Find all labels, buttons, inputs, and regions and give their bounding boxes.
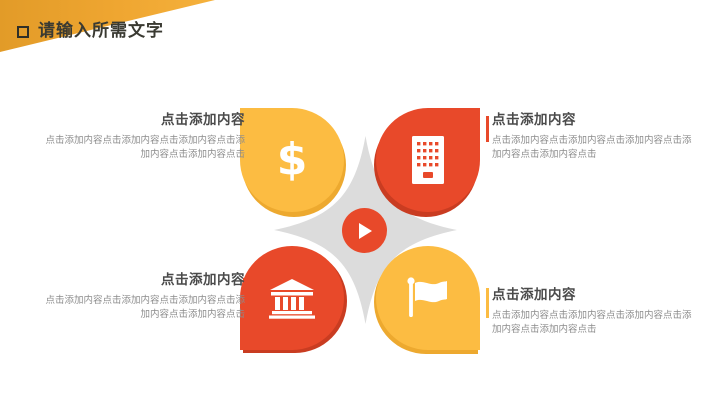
dollar-icon: $ bbox=[240, 108, 344, 212]
play-button[interactable] bbox=[342, 208, 387, 253]
text-block-bottom-left-body: 点击添加内容点击添加内容点击添加内容点击添加内容点击添加内容点击 bbox=[40, 294, 245, 323]
text-block-top-right[interactable]: 点击添加内容 点击添加内容点击添加内容点击添加内容点击添加内容点击添加内容点击 bbox=[492, 112, 697, 163]
text-block-bottom-right-heading: 点击添加内容 bbox=[492, 287, 697, 305]
accent-bar-top-right bbox=[486, 116, 489, 142]
text-block-bottom-right[interactable]: 点击添加内容 点击添加内容点击添加内容点击添加内容点击添加内容点击添加内容点击 bbox=[492, 287, 697, 338]
text-block-top-right-body: 点击添加内容点击添加内容点击添加内容点击添加内容点击添加内容点击 bbox=[492, 134, 697, 163]
text-block-top-left-heading: 点击添加内容 bbox=[40, 112, 245, 130]
petal-top-left[interactable]: $ bbox=[240, 108, 344, 212]
bank-icon bbox=[240, 246, 344, 350]
office-building-icon bbox=[376, 108, 480, 212]
petal-bottom-right[interactable] bbox=[376, 246, 480, 350]
text-block-bottom-left[interactable]: 点击添加内容 点击添加内容点击添加内容点击添加内容点击添加内容点击添加内容点击 bbox=[40, 272, 245, 323]
petal-bottom-left[interactable] bbox=[240, 246, 344, 350]
svg-text:$: $ bbox=[277, 136, 308, 184]
petal-top-right[interactable] bbox=[376, 108, 480, 212]
text-block-top-left-body: 点击添加内容点击添加内容点击添加内容点击添加内容点击添加内容点击 bbox=[40, 134, 245, 163]
play-icon bbox=[356, 221, 374, 241]
page-title: 请输入所需文字 bbox=[38, 23, 164, 40]
text-block-bottom-left-heading: 点击添加内容 bbox=[40, 272, 245, 290]
header-band: 请输入所需文字 bbox=[0, 0, 721, 56]
square-outline-icon bbox=[17, 26, 29, 38]
accent-bar-bottom-right bbox=[486, 288, 489, 318]
text-block-top-right-heading: 点击添加内容 bbox=[492, 112, 697, 130]
four-part-diagram: $ bbox=[238, 100, 493, 360]
text-block-bottom-right-body: 点击添加内容点击添加内容点击添加内容点击添加内容点击添加内容点击 bbox=[492, 309, 697, 338]
flag-icon bbox=[376, 246, 480, 350]
text-block-top-left[interactable]: 点击添加内容 点击添加内容点击添加内容点击添加内容点击添加内容点击添加内容点击 bbox=[40, 112, 245, 163]
